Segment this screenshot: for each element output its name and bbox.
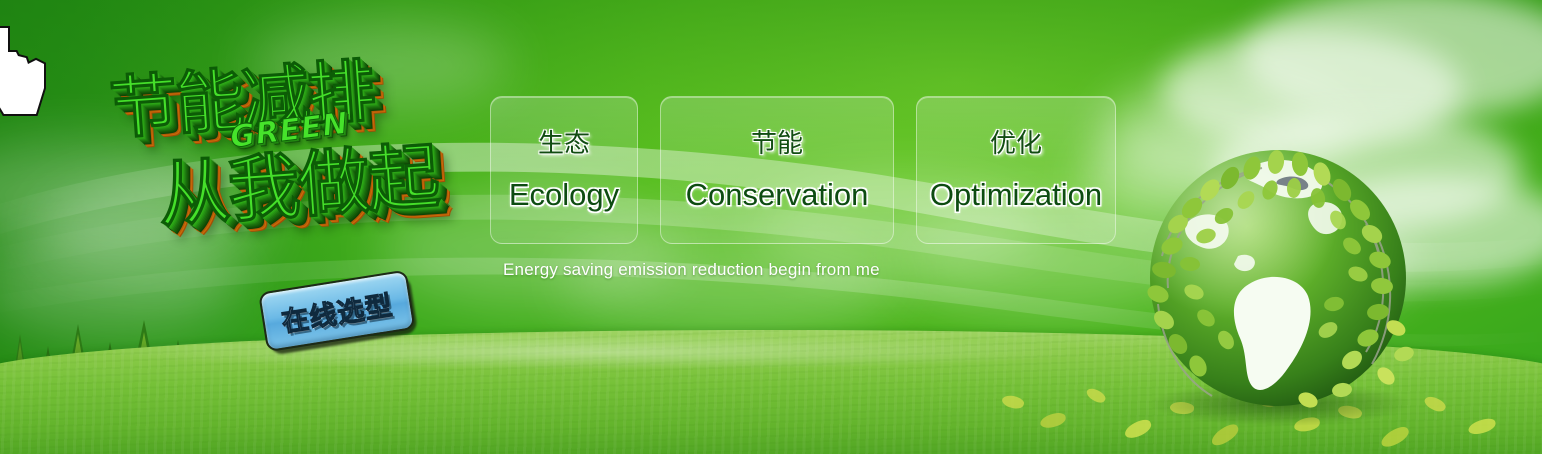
feature-card-cn-label: 节能 [751,131,803,157]
feature-card-list: 生态 Ecology 节能 Conservation 优化 Optimizati… [490,96,1116,244]
eco-banner: 节能减排 GREEN 从我做起 在线选型 生态 Ecology 节能 Conse… [0,0,1542,454]
grass-highlight [97,334,1091,370]
feature-card-cn-label: 优化 [990,131,1042,157]
feature-card-conservation[interactable]: 节能 Conservation [660,96,894,244]
button-label: 在线选型 [278,283,395,339]
feature-card-en-label: Conservation [686,179,869,210]
headline-3d-art: 节能减排 GREEN 从我做起 [88,20,524,299]
leafy-globe-illustration [1128,128,1428,428]
tagline-text: Energy saving emission reduction begin f… [503,260,880,280]
feature-card-optimization[interactable]: 优化 Optimization [916,96,1116,244]
feature-card-ecology[interactable]: 生态 Ecology [490,96,638,244]
hand-pointer-cursor-icon [0,22,54,118]
headline-line2: 从我做起 [154,117,441,241]
feature-card-cn-label: 生态 [538,131,590,157]
feature-card-en-label: Optimization [930,179,1102,210]
feature-card-en-label: Ecology [509,179,619,210]
